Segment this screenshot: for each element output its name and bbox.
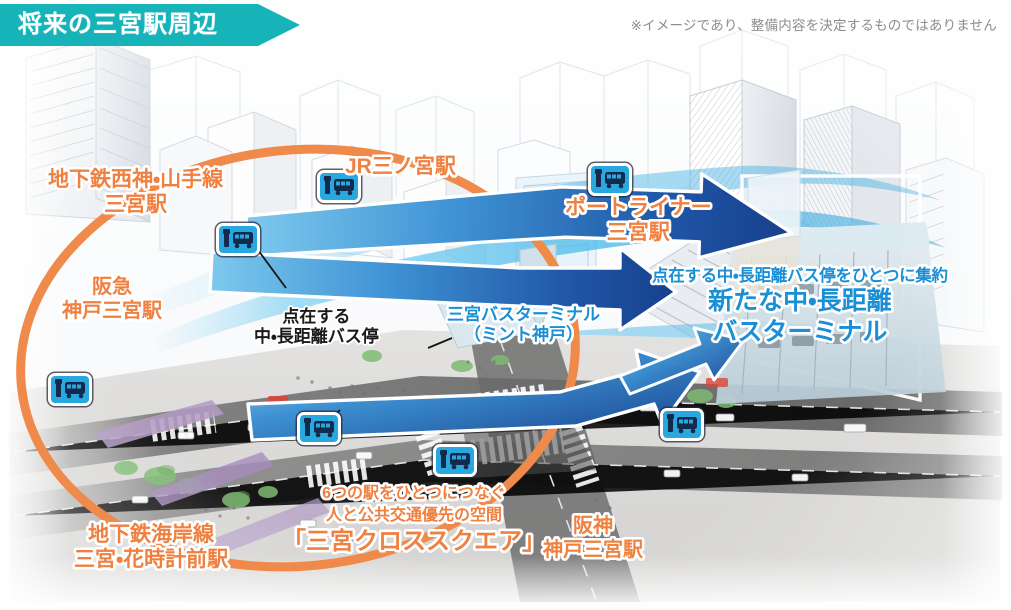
disclaimer-note: ※イメージであり、整備内容を決定するものではありません bbox=[631, 14, 997, 34]
label-line: 三宮・花時計前駅 bbox=[74, 548, 228, 573]
label-hanshin-kobe-sannomiya-station: 阪神 神戸三宮駅 bbox=[543, 515, 643, 562]
infographic-canvas: 将来の三宮駅周辺 ※イメージであり、整備内容を決定するものではありません bbox=[0, 0, 1011, 610]
label-line: （ミント神戸） bbox=[447, 325, 600, 345]
bus-stop-icon bbox=[216, 223, 260, 256]
label-subtext: 点在する中・長距離バス停をひとつに集約 bbox=[652, 267, 948, 286]
label-line: 点在する bbox=[254, 307, 379, 327]
label-hankyu-kobe-sannomiya-station: 阪急 神戸三宮駅 bbox=[62, 276, 162, 323]
label-subway-kaigan-hanadokeimae-station: 地下鉄海岸線 三宮・花時計前駅 bbox=[74, 523, 228, 573]
label-line: JR三ノ宮駅 bbox=[345, 155, 456, 180]
label-line: 神戸三宮駅 bbox=[62, 300, 162, 324]
title-ribbon: 将来の三宮駅周辺 bbox=[0, 4, 300, 46]
label-line: バスターミナル bbox=[652, 317, 948, 348]
label-line: 「三宮クロススクエア」 bbox=[282, 526, 546, 557]
bus-stop-icon bbox=[297, 412, 341, 445]
label-line: 中・長距離バス停 bbox=[254, 327, 379, 347]
label-line: 阪神 bbox=[543, 515, 643, 539]
label-subtext: 6つの駅をひとつにつなぐ bbox=[282, 483, 546, 505]
label-line: 新たな中・長距離 bbox=[652, 286, 948, 317]
label-subway-seishin-yamate-sannomiya: 地下鉄西神・山手線 三宮駅 bbox=[48, 168, 223, 218]
bus-stop-icon bbox=[588, 163, 632, 196]
page-title: 将来の三宮駅周辺 bbox=[0, 13, 218, 37]
bus-stop-icon bbox=[48, 373, 92, 406]
label-line: 地下鉄西神・山手線 bbox=[48, 168, 223, 193]
label-sannomiya-cross-square: 6つの駅をひとつにつなぐ 人と公共交通優先の空間 「三宮クロススクエア」 bbox=[282, 483, 546, 557]
label-scattered-bus-stops: 点在する 中・長距離バス停 bbox=[254, 307, 379, 347]
label-line: 三宮駅 bbox=[48, 193, 223, 218]
label-line: 三宮駅 bbox=[565, 221, 712, 246]
label-line: 阪急 bbox=[62, 276, 162, 300]
label-new-long-distance-bus-terminal: 点在する中・長距離バス停をひとつに集約 新たな中・長距離 バスターミナル bbox=[652, 267, 948, 347]
label-line: 地下鉄海岸線 bbox=[74, 523, 228, 548]
bus-stop-icon bbox=[660, 408, 704, 441]
label-line: 三宮バスターミナル bbox=[447, 305, 600, 325]
bus-stop-icon bbox=[433, 444, 477, 477]
label-portliner-sannomiya-station: ポートライナー 三宮駅 bbox=[565, 196, 712, 246]
label-line: ポートライナー bbox=[565, 196, 712, 221]
label-line: 神戸三宮駅 bbox=[543, 539, 643, 563]
label-subtext: 人と公共交通優先の空間 bbox=[282, 505, 546, 527]
label-sannomiya-bus-terminal-mint-kobe: 三宮バスターミナル （ミント神戸） bbox=[447, 305, 600, 345]
label-jr-sannomiya-station: JR三ノ宮駅 bbox=[345, 155, 456, 180]
